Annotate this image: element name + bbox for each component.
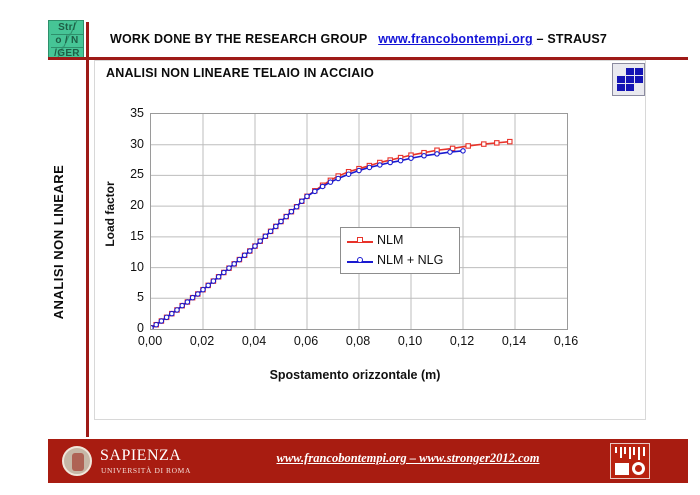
series-marker: [346, 172, 350, 176]
series-marker: [422, 154, 426, 158]
series-marker: [237, 257, 241, 261]
series-marker: [159, 319, 163, 323]
series-marker: [190, 295, 194, 299]
y-axis-tick-label: 30: [104, 137, 144, 151]
slide-header: Str/ o / N /GER WORK DONE BY THE RESEARC…: [0, 0, 700, 60]
series-marker: [409, 156, 413, 160]
sapienza-seal-icon: [62, 446, 92, 476]
y-axis-tick-label: 25: [104, 167, 144, 181]
logo-bar: [633, 447, 635, 455]
grid-square: [626, 68, 634, 75]
slide: Str/ o / N /GER WORK DONE BY THE RESEARC…: [0, 0, 700, 495]
legend-label: NLM: [377, 233, 403, 247]
grid-square: [626, 76, 634, 83]
x-axis-tick-label: 0,02: [177, 333, 227, 349]
series-marker: [180, 303, 184, 307]
header-title-prefix: WORK DONE BY THE RESEARCH GROUP: [110, 32, 367, 46]
panel-title: ANALISI NON LINEARE TELAIO IN ACCIAIO: [106, 66, 374, 80]
y-axis-tick-label: 35: [104, 106, 144, 120]
logo-line-2: o / N: [49, 34, 84, 47]
series-marker: [508, 139, 512, 143]
series-marker: [328, 180, 332, 184]
chart-legend: NLMNLM + NLG: [340, 227, 460, 274]
series-marker: [461, 149, 465, 153]
series-marker: [154, 323, 158, 327]
series-marker: [294, 205, 298, 209]
legend-marker: [357, 257, 363, 263]
series-marker: [175, 308, 179, 312]
series-marker: [211, 279, 215, 283]
x-axis-tick-label: 0,04: [229, 333, 279, 349]
series-marker: [268, 229, 272, 233]
legend-item[interactable]: NLM: [347, 232, 459, 252]
series-marker: [242, 253, 246, 257]
series-marker: [185, 300, 189, 304]
series-marker: [388, 160, 392, 164]
x-axis-tick-label: 0,10: [385, 333, 435, 349]
series-marker: [151, 326, 153, 329]
series-marker: [258, 239, 262, 243]
legend-item[interactable]: NLM + NLG: [347, 252, 459, 272]
series-marker: [482, 142, 486, 146]
x-axis-tick-label: 0,12: [437, 333, 487, 349]
fbo-logo-icon: [610, 443, 650, 479]
x-axis-tick-label: 0,00: [125, 333, 175, 349]
x-axis-tick-label: 0,08: [333, 333, 383, 349]
series-marker: [367, 165, 371, 169]
x-axis-tick-label: 0,06: [281, 333, 331, 349]
grid-square: [617, 84, 625, 91]
chart-svg: [151, 114, 567, 329]
series-marker: [248, 249, 252, 253]
grid-squares-icon[interactable]: [612, 63, 645, 96]
series-marker: [289, 209, 293, 213]
header-title-suffix: – STRAUS7: [537, 32, 608, 46]
grid-square: [626, 84, 634, 91]
series-marker: [313, 189, 317, 193]
logo-bar: [615, 447, 617, 453]
series-marker: [305, 194, 309, 198]
slide-footer: SAPIENZA UNIVERSITÀ DI ROMA www.francobo…: [48, 439, 688, 483]
series-marker: [378, 163, 382, 167]
series-marker: [320, 184, 324, 188]
logo-bar: [638, 447, 640, 460]
legend-label: NLM + NLG: [377, 253, 443, 267]
series-marker: [253, 244, 257, 248]
logo-bar: [629, 447, 631, 459]
left-accent-rule: [86, 22, 89, 437]
series-marker: [263, 234, 267, 238]
legend-marker: [357, 237, 363, 243]
series-marker: [170, 311, 174, 315]
logo-bar: [624, 447, 626, 454]
series-marker: [357, 168, 361, 172]
footer-website-link[interactable]: www.francobontempi.org – www.stronger201…: [208, 451, 608, 471]
series-marker: [279, 219, 283, 223]
series-marker: [206, 283, 210, 287]
series-marker: [274, 224, 278, 228]
series-marker: [435, 152, 439, 156]
logo-bar: [643, 447, 645, 456]
university-subtitle: UNIVERSITÀ DI ROMA: [101, 466, 191, 475]
series-marker: [227, 266, 231, 270]
series-marker: [164, 315, 168, 319]
logo-bar: [620, 447, 622, 458]
series-marker: [201, 287, 205, 291]
section-side-label: ANALISI NON LINEARE: [51, 142, 75, 342]
series-marker: [216, 275, 220, 279]
chart-container: Load factor Spostamento orizzontale (m) …: [94, 96, 594, 396]
series-marker: [466, 144, 470, 148]
x-axis-title: Spostamento orizzontale (m): [130, 368, 580, 386]
logo-block: [615, 463, 629, 475]
series-marker: [336, 176, 340, 180]
logo-line-1: Str/: [49, 21, 84, 34]
series-marker: [495, 141, 499, 145]
y-axis-tick-label: 5: [104, 290, 144, 304]
series-marker: [232, 262, 236, 266]
grid-square: [617, 76, 625, 83]
series-marker: [284, 214, 288, 218]
y-axis-tick-label: 20: [104, 198, 144, 212]
grid-square: [635, 76, 643, 83]
series-marker: [196, 292, 200, 296]
university-name: SAPIENZA: [100, 447, 181, 465]
header-title: WORK DONE BY THE RESEARCH GROUP www.fran…: [110, 32, 670, 52]
plot-area: [150, 113, 568, 330]
stronger-logo: Str/ o / N /GER: [48, 20, 84, 60]
x-axis-tick-label: 0,16: [541, 333, 591, 349]
series-marker: [222, 270, 226, 274]
y-axis-tick-label: 15: [104, 229, 144, 243]
series-marker: [398, 158, 402, 162]
series-marker: [300, 199, 304, 203]
series-marker: [448, 150, 452, 154]
y-axis-tick-label: 10: [104, 260, 144, 274]
header-website-link[interactable]: www.francobontempi.org: [378, 32, 533, 46]
grid-square: [635, 68, 643, 75]
x-axis-tick-label: 0,14: [489, 333, 539, 349]
